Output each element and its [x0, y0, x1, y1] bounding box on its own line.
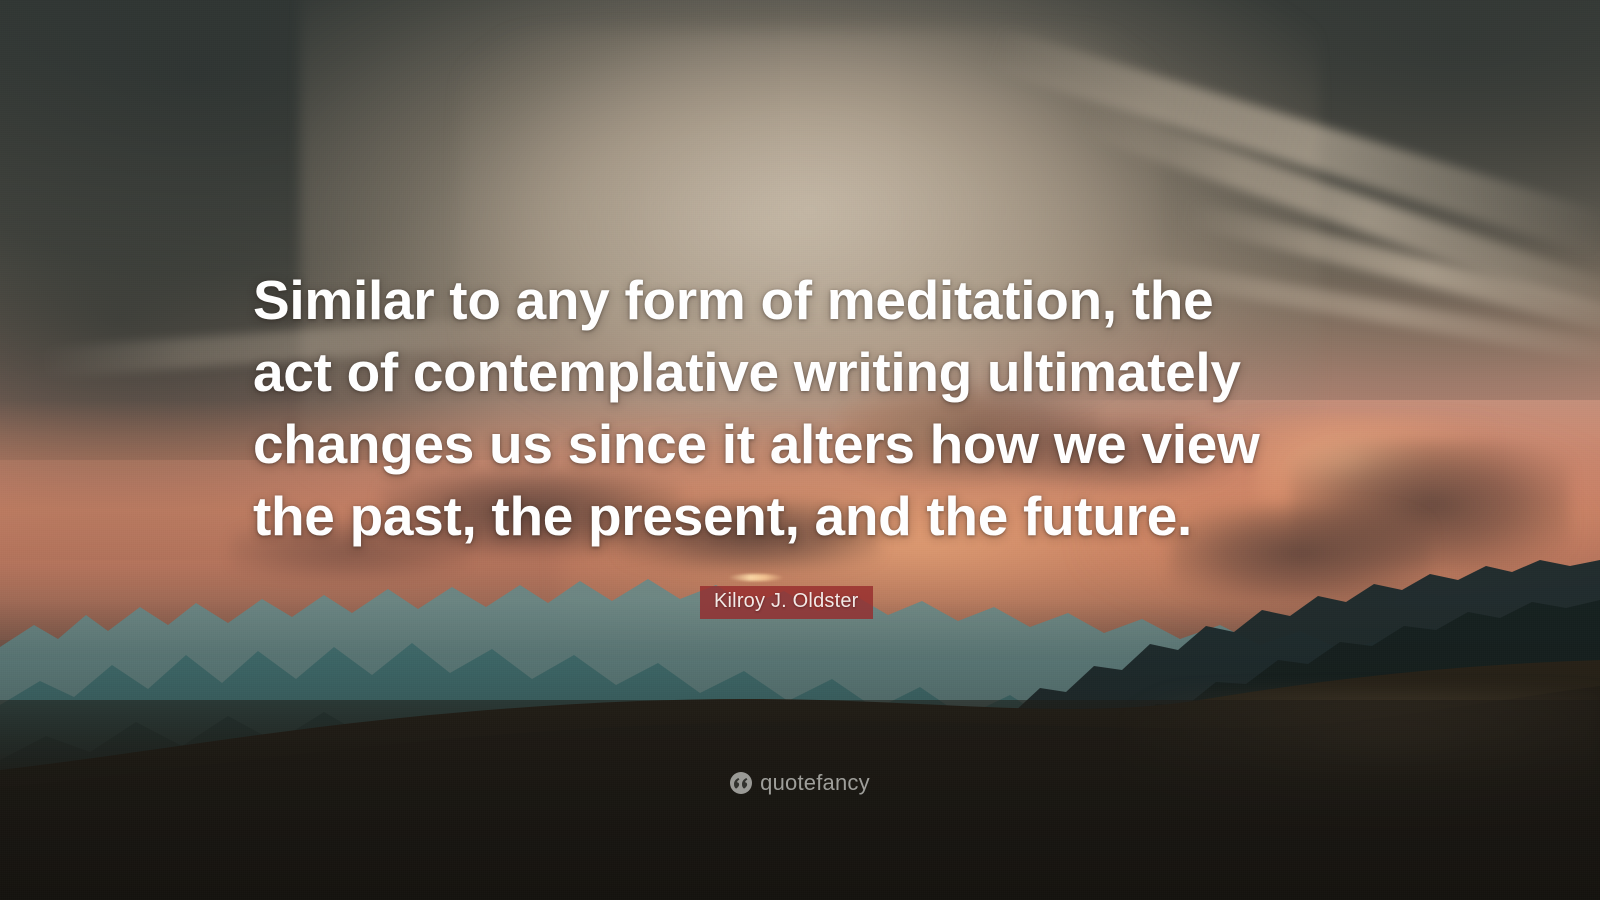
quote-text-block: Similar to any form of meditation, the a… — [253, 264, 1343, 552]
quotefancy-wordmark: quotefancy — [760, 772, 870, 794]
author-name: Kilroy J. Oldster — [714, 590, 859, 612]
quote-poster: Similar to any form of meditation, the a… — [0, 0, 1600, 900]
quote-mark-icon — [730, 772, 752, 794]
quote-line: changes us since it alters how we view — [253, 408, 1343, 480]
author-badge: Kilroy J. Oldster — [700, 586, 873, 619]
quotefancy-logo[interactable]: quotefancy — [0, 772, 1600, 794]
bottom-vignette — [0, 600, 1600, 900]
quote-line: act of contemplative writing ultimately — [253, 336, 1343, 408]
quote-line: the past, the present, and the future. — [253, 480, 1343, 552]
quote-line: Similar to any form of meditation, the — [253, 264, 1343, 336]
